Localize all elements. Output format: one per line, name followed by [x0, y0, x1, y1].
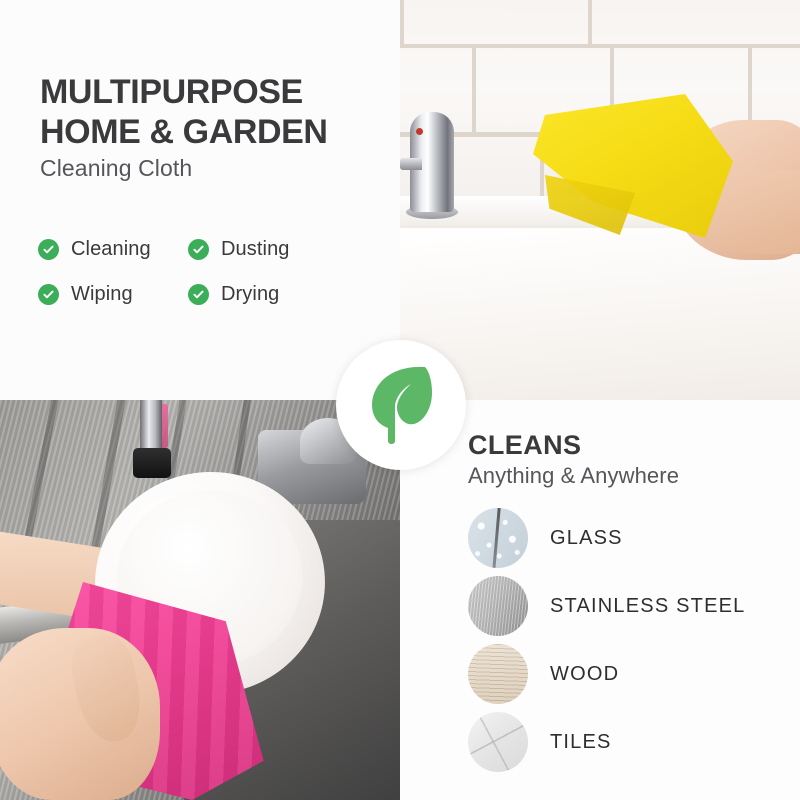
- eco-leaf-badge: [336, 340, 466, 470]
- kitchen-faucet-head: [133, 448, 171, 478]
- surface-list: GLASS STAINLESS STEEL WOOD TILES: [468, 504, 788, 776]
- tiles-texture-swatch: [468, 712, 528, 772]
- feature-row: Cleaning Dusting: [38, 238, 368, 261]
- grout-line: [588, 0, 592, 44]
- feature-item-dusting: Dusting: [188, 238, 338, 261]
- page-title: MULTIPURPOSE HOME & GARDEN: [40, 72, 390, 152]
- surface-item-wood: WOOD: [468, 640, 788, 708]
- faucet-indicator: [416, 128, 423, 135]
- feature-label: Wiping: [71, 283, 133, 306]
- surface-label: STAINLESS STEEL: [550, 595, 745, 618]
- surface-label: GLASS: [550, 527, 623, 550]
- photo-content: [0, 400, 400, 800]
- faucet-spout: [400, 158, 422, 170]
- check-circle-icon: [188, 239, 209, 260]
- grout-line: [400, 0, 404, 44]
- feature-item-drying: Drying: [188, 283, 338, 306]
- feature-item-wiping: Wiping: [38, 283, 188, 306]
- leaf-icon: [362, 361, 440, 450]
- surface-item-tiles: TILES: [468, 708, 788, 776]
- feature-label: Dusting: [221, 238, 290, 261]
- title-line-2: HOME & GARDEN: [40, 112, 390, 152]
- feature-label: Cleaning: [71, 238, 151, 261]
- feature-list: Cleaning Dusting Wiping: [38, 238, 368, 328]
- glass-texture-swatch: [468, 508, 528, 568]
- product-subtitle: Cleaning Cloth: [40, 155, 192, 182]
- photo-bathroom-sink: [400, 0, 800, 400]
- check-circle-icon: [38, 284, 59, 305]
- check-circle-icon: [38, 239, 59, 260]
- photo-kitchen-sink: [0, 400, 400, 800]
- grout-line: [400, 44, 800, 48]
- feature-item-cleaning: Cleaning: [38, 238, 188, 261]
- stainless-steel-texture-swatch: [468, 576, 528, 636]
- surface-label: WOOD: [550, 663, 619, 686]
- cleans-title: CLEANS: [468, 430, 581, 461]
- feature-row: Wiping Drying: [38, 283, 368, 306]
- photo-content: [400, 0, 800, 400]
- infographic-canvas: MULTIPURPOSE HOME & GARDEN Cleaning Clot…: [0, 0, 800, 800]
- wood-texture-swatch: [468, 644, 528, 704]
- surface-label: TILES: [550, 731, 612, 754]
- surface-item-glass: GLASS: [468, 504, 788, 572]
- grout-line: [472, 48, 476, 132]
- cleans-subtitle: Anything & Anywhere: [468, 463, 679, 489]
- title-line-1: MULTIPURPOSE: [40, 73, 303, 111]
- surface-item-stainless-steel: STAINLESS STEEL: [468, 572, 788, 640]
- check-circle-icon: [188, 284, 209, 305]
- feature-label: Drying: [221, 283, 279, 306]
- panel-product-headline: MULTIPURPOSE HOME & GARDEN Cleaning Clot…: [0, 0, 400, 400]
